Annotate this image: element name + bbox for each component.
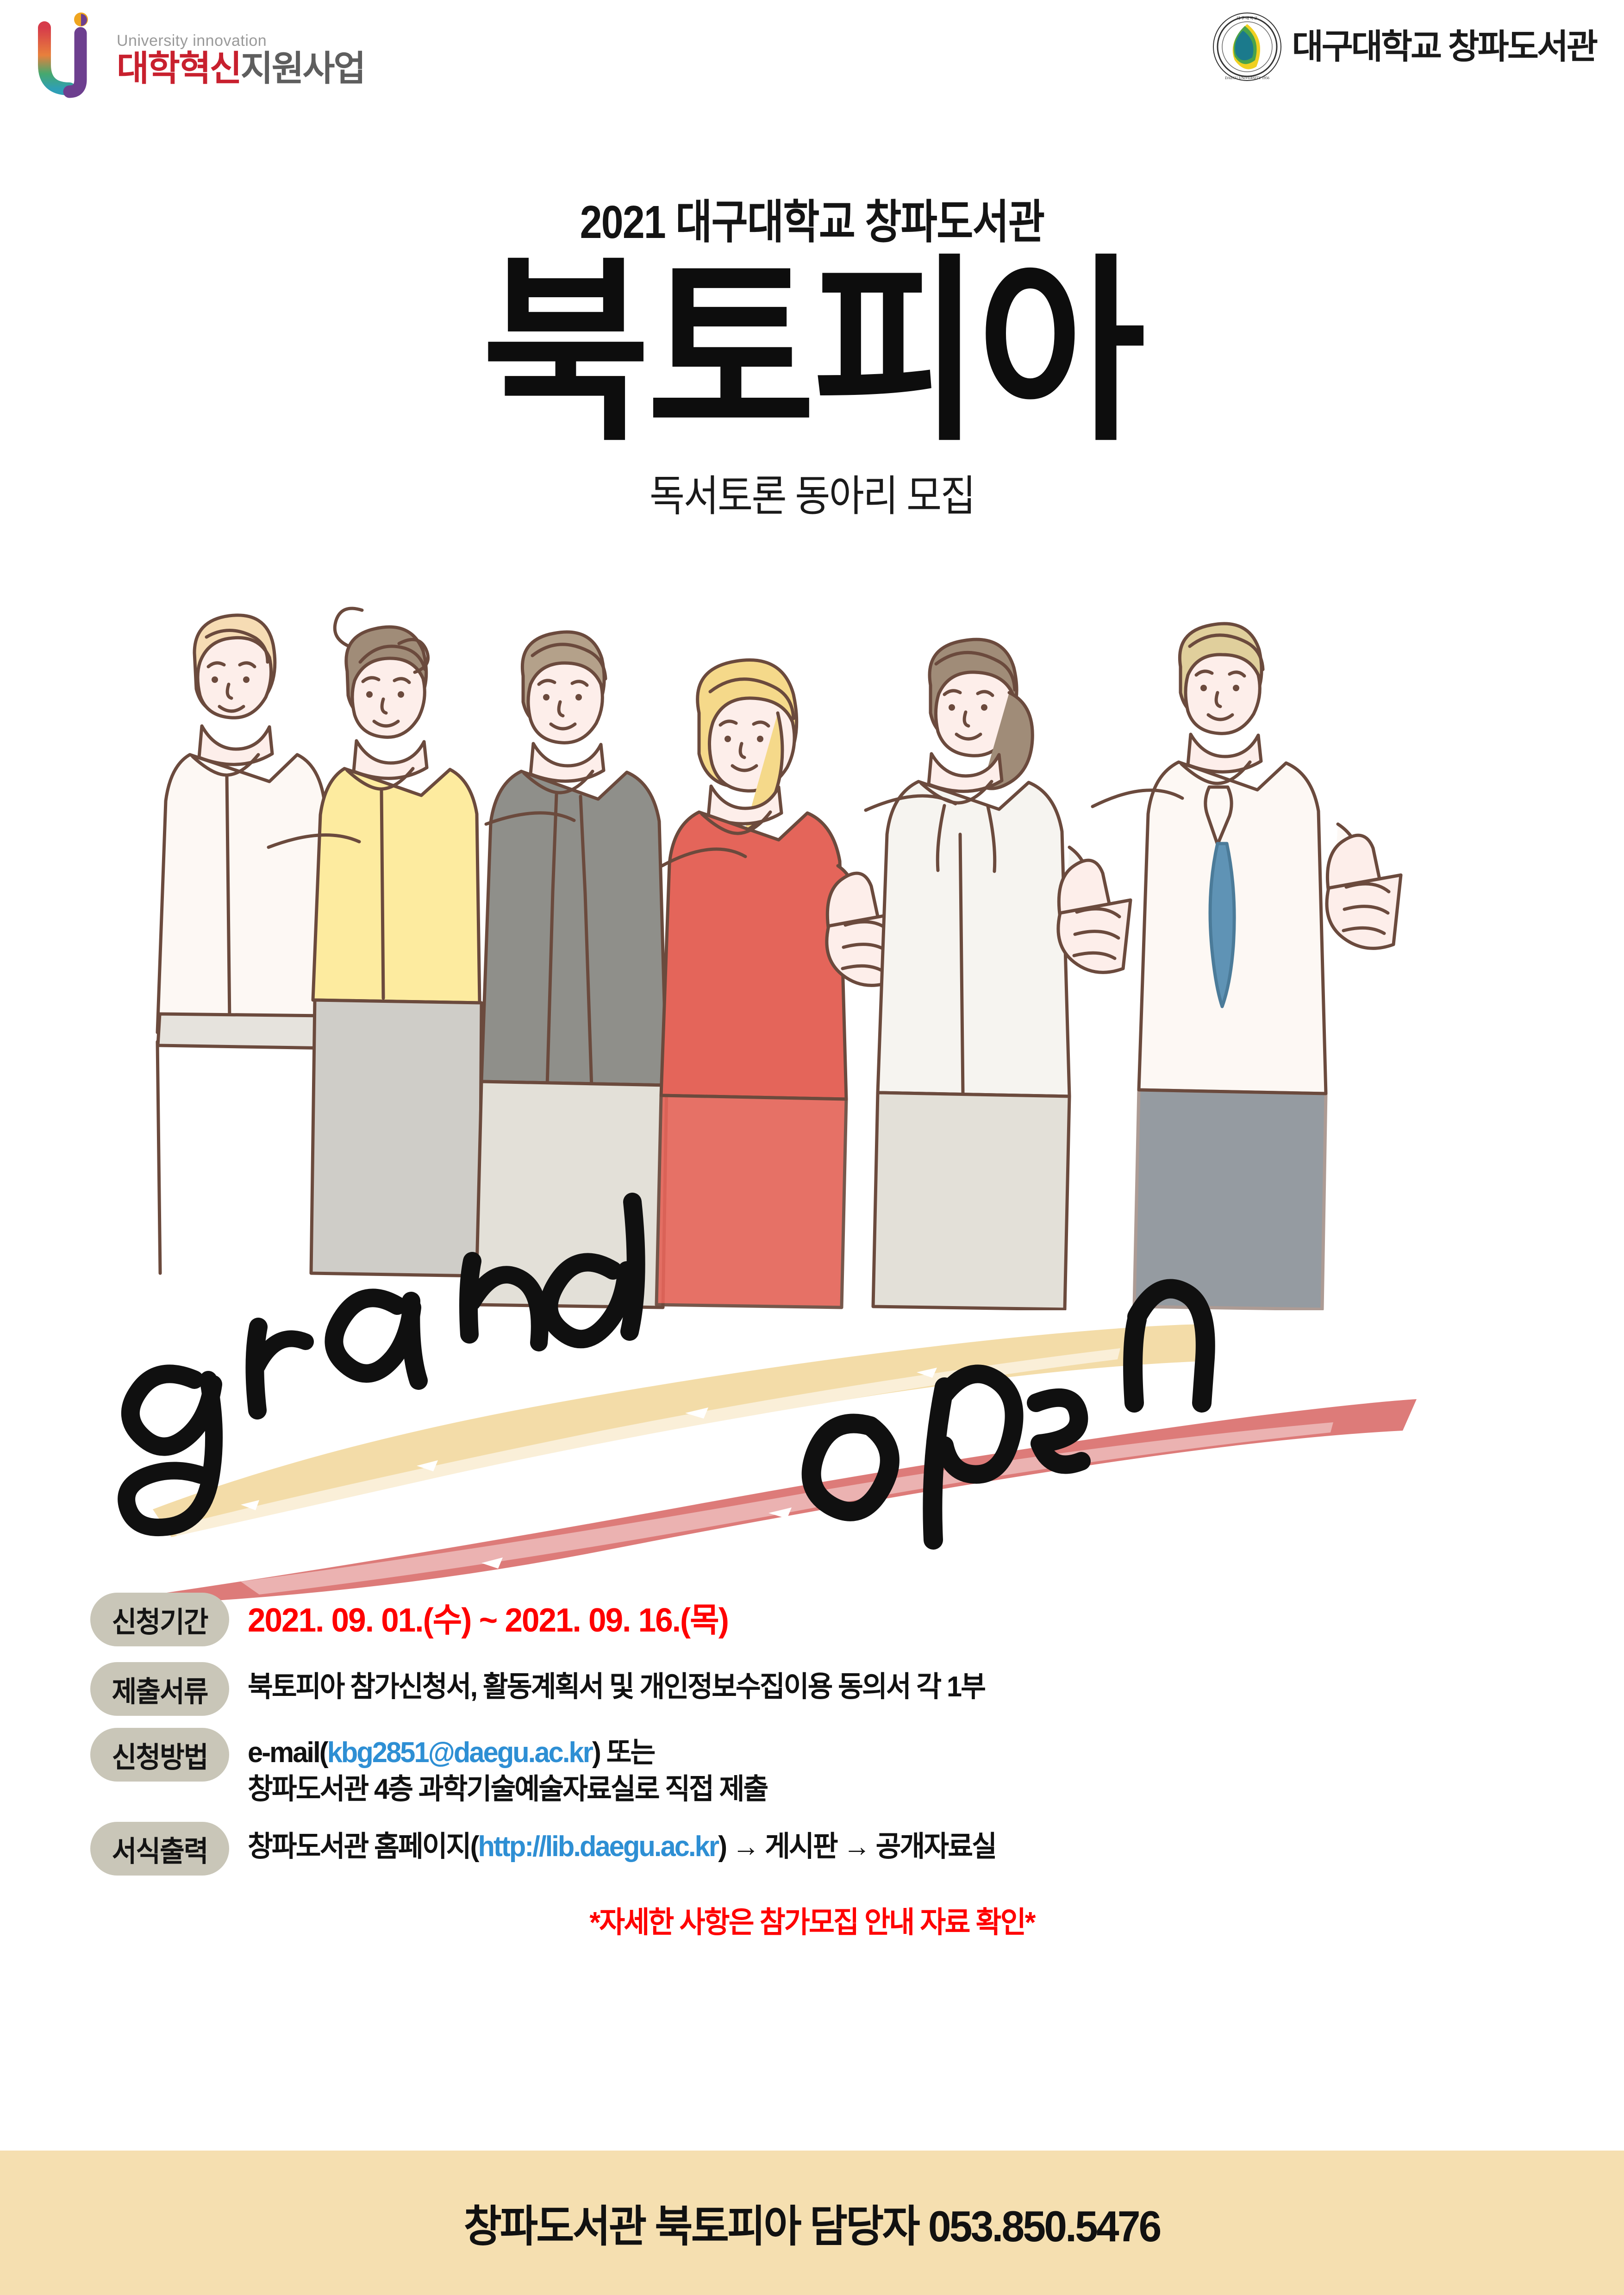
homepage-suffix: ) → 게시판 → 공개자료실 [718, 1831, 996, 1863]
homepage-link[interactable]: http://lib.daegu.ac.kr [478, 1831, 718, 1863]
poster-title: 북토피아 [65, 256, 1559, 450]
application-period-date: 2021. 09. 01.(수) ~ 2021. 09. 16.(목) [248, 1599, 728, 1642]
label-text: 제출서류 [112, 1668, 208, 1710]
info-row-application-period: 신청기간 2021. 09. 01.(수) ~ 2021. 09. 16.(목) [0, 1593, 1624, 1646]
poster-pretitle: 2021 대구대학교 창파도서관 [114, 199, 1511, 245]
info-row-required-documents: 제출서류 북토피아 참가신청서, 활동계획서 및 개인정보수집이용 동의서 각 … [0, 1662, 1624, 1716]
ui-logo-kor: 대학혁신지원사업 [117, 51, 364, 87]
form-download-line: 창파도서관 홈페이지(http://lib.daegu.ac.kr) → 게시판… [248, 1828, 996, 1865]
email-prefix: e-mail( [248, 1737, 327, 1769]
info-row-form-download: 서식출력 창파도서관 홈페이지(http://lib.daegu.ac.kr) … [0, 1822, 1624, 1876]
application-method-email-line: e-mail(kbg2851@daegu.ac.kr) 또는 [248, 1734, 767, 1771]
ui-logo-eng: University innovation [117, 33, 364, 49]
application-method-inperson-line: 창파도서관 4층 과학기술예술자료실로 직접 제출 [248, 1771, 767, 1807]
poster-subtitle: 독서토론 동아리 모집 [81, 462, 1543, 523]
value-required-documents: 북토피아 참가신청서, 활동계획서 및 개인정보수집이용 동의서 각 1부 [248, 1662, 1015, 1705]
title-block: 2021 대구대학교 창파도서관 북토피아 독서토론 동아리 모집 [0, 199, 1624, 523]
svg-text:DAEGU UNIVERSITY 1956: DAEGU UNIVERSITY 1956 [1225, 76, 1269, 80]
label-text: 신청기간 [112, 1599, 208, 1640]
ui-monogram-icon [36, 10, 106, 103]
daegu-library-logo: 대 구 대 학 교 DAEGU UNIVERSITY 1956 대구대학교 창파… [1212, 12, 1596, 81]
tan-brush-stroke [153, 1324, 1213, 1543]
value-application-method: e-mail(kbg2851@daegu.ac.kr) 또는 창파도서관 4층 … [248, 1728, 789, 1808]
homepage-prefix: 창파도서관 홈페이지( [248, 1831, 478, 1863]
university-innovation-logo: University innovation 대학혁신지원사업 [36, 10, 364, 103]
label-text: 서식출력 [112, 1828, 208, 1870]
contact-footer-bar: 창파도서관 북토피아 담당자 053.850.5476 [0, 2151, 1624, 2295]
daegu-university-seal-icon: 대 구 대 학 교 DAEGU UNIVERSITY 1956 [1212, 12, 1282, 81]
ui-logo-kor-gray: 지원사업 [241, 49, 365, 88]
label-pill-application-period: 신청기간 [90, 1593, 229, 1646]
additional-note: *자세한 사항은 참가모집 안내 자료 확인* [41, 1899, 1584, 1941]
label-text: 신청방법 [112, 1734, 208, 1776]
required-documents-text: 북토피아 참가신청서, 활동계획서 및 개인정보수집이용 동의서 각 1부 [248, 1669, 985, 1705]
email-suffix: ) 또는 [592, 1737, 654, 1769]
open-word [812, 1289, 1206, 1540]
library-name: 대구대학교 창파도서관 [1292, 30, 1596, 64]
label-pill-application-method: 신청방법 [90, 1728, 229, 1782]
info-section: 신청기간 2021. 09. 01.(수) ~ 2021. 09. 16.(목)… [0, 1593, 1624, 1941]
value-application-period: 2021. 09. 01.(수) ~ 2021. 09. 16.(목) [248, 1593, 748, 1642]
contact-footer-text: 창파도서관 북토피아 담당자 053.850.5476 [464, 2191, 1160, 2254]
label-pill-required-documents: 제출서류 [90, 1662, 229, 1716]
ui-logo-kor-red: 대학혁신 [117, 49, 241, 88]
email-link[interactable]: kbg2851@daegu.ac.kr [327, 1737, 592, 1769]
info-row-application-method: 신청방법 e-mail(kbg2851@daegu.ac.kr) 또는 창파도서… [0, 1728, 1624, 1808]
salmon-brush-stroke [167, 1399, 1417, 1602]
label-pill-form-download: 서식출력 [90, 1822, 229, 1876]
svg-text:대 구 대 학 교: 대 구 대 학 교 [1237, 16, 1257, 20]
value-form-download: 창파도서관 홈페이지(http://lib.daegu.ac.kr) → 게시판… [248, 1822, 1027, 1865]
people-thumbs-up-illustration [116, 607, 1528, 1310]
poster-header: University innovation 대학혁신지원사업 대 구 대 학 교… [0, 0, 1624, 139]
